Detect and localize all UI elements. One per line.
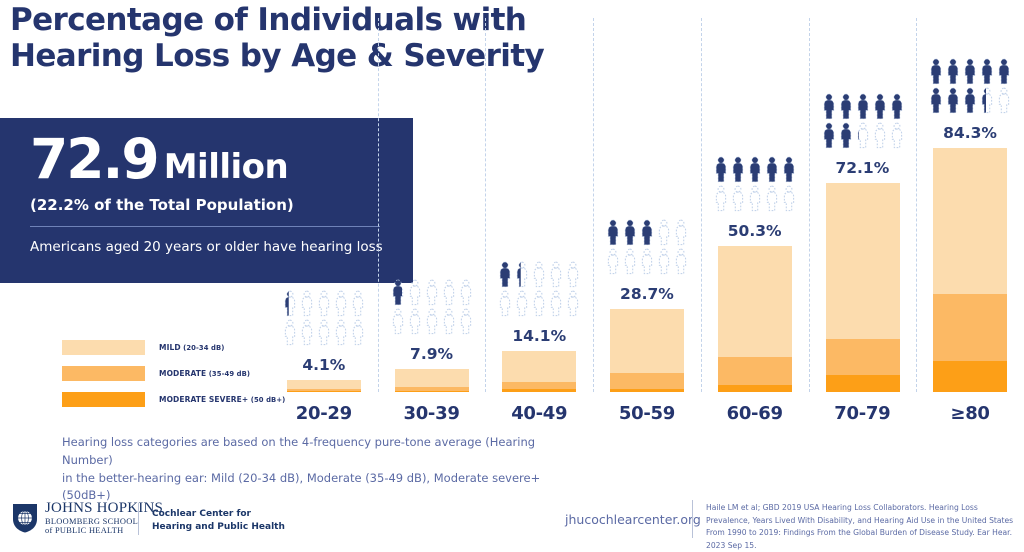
age-group-label-60-69: 60-69 <box>701 403 809 424</box>
person-icon <box>873 93 887 120</box>
person-icon <box>623 219 637 246</box>
cochlear-center-line-2: Hearing and Public Health <box>152 521 285 534</box>
bar-value-label: 50.3% <box>701 222 809 240</box>
person-icon-wrap <box>425 308 439 335</box>
person-icon-wrap <box>822 122 836 149</box>
person-icon-wrap <box>873 93 887 120</box>
person-icon-wrap <box>606 219 620 246</box>
person-icon-wrap <box>748 156 762 183</box>
person-icon-wrap <box>822 93 836 120</box>
chart-column: 50.3%60-69 <box>701 0 809 430</box>
legend-label: MODERATE (35-49 dB) <box>159 369 250 378</box>
bar-segment <box>933 148 1007 294</box>
headline-stat-number: 72.9 <box>30 127 158 191</box>
person-icon-wrap <box>317 290 331 317</box>
person-icon-wrap <box>459 279 473 306</box>
person-icon-wrap <box>782 185 796 212</box>
bar-value-label: 4.1% <box>270 356 378 374</box>
chart-column: 4.1%20-29 <box>270 0 378 430</box>
bar-segment <box>933 294 1007 361</box>
bar-value-label: 7.9% <box>378 345 486 363</box>
person-icon <box>606 248 620 275</box>
person-icon-wrap <box>929 58 943 85</box>
person-icon-wrap <box>317 319 331 346</box>
person-icon <box>408 308 422 335</box>
cochlear-center-line-1: Cochlear Center for <box>152 508 285 521</box>
person-icon <box>765 156 779 183</box>
legend-label-name: MODERATE SEVERE+ <box>159 395 248 404</box>
pictogram <box>604 219 690 275</box>
person-icon-wrap <box>459 308 473 335</box>
person-icon <box>498 290 512 317</box>
person-icon <box>532 261 546 288</box>
chart-column: 14.1%40-49 <box>485 0 593 430</box>
person-icon <box>459 279 473 306</box>
legend-swatch <box>62 392 145 407</box>
person-icon-wrap <box>657 248 671 275</box>
person-icon <box>839 122 853 149</box>
person-icon-wrap <box>515 261 529 288</box>
legend-label: MODERATE SEVERE+ (50 dB+) <box>159 395 285 404</box>
bar-50-59[interactable] <box>610 309 684 392</box>
person-icon <box>748 156 762 183</box>
person-icon <box>748 185 762 212</box>
person-icon <box>498 261 512 288</box>
person-icon <box>657 219 671 246</box>
person-icon <box>300 290 314 317</box>
person-icon <box>425 279 439 306</box>
person-icon <box>640 248 654 275</box>
pictogram <box>820 93 906 149</box>
column-separator <box>593 18 594 392</box>
person-icon-wrap <box>425 279 439 306</box>
footnote: Hearing loss categories are based on the… <box>62 434 582 505</box>
person-icon <box>549 261 563 288</box>
person-icon <box>980 58 994 85</box>
person-icon <box>890 93 904 120</box>
pictogram <box>927 58 1013 114</box>
bar-segment <box>287 380 361 389</box>
age-group-label-30-39: 30-39 <box>378 403 486 424</box>
person-icon-wrap <box>566 290 580 317</box>
pictogram <box>496 261 582 317</box>
legend-label-range: (35-49 dB) <box>206 370 250 378</box>
person-icon <box>963 87 977 114</box>
person-icon-wrap <box>873 122 887 149</box>
legend-swatch <box>62 366 145 381</box>
bar-segment <box>718 357 792 385</box>
person-icon-wrap <box>606 248 620 275</box>
person-icon <box>300 319 314 346</box>
person-icon <box>873 122 887 149</box>
person-icon-wrap <box>963 58 977 85</box>
person-icon <box>351 290 365 317</box>
person-icon-wrap <box>532 290 546 317</box>
bar-60-69[interactable] <box>718 246 792 392</box>
person-icon <box>459 308 473 335</box>
bar-segment <box>718 385 792 392</box>
bar-segment <box>502 351 576 381</box>
person-icon <box>515 290 529 317</box>
bar-20-29[interactable] <box>287 380 361 392</box>
infographic-root: Percentage of Individuals with Hearing L… <box>0 0 1024 541</box>
person-icon <box>425 308 439 335</box>
person-icon-wrap <box>623 248 637 275</box>
person-icon-wrap <box>980 58 994 85</box>
legend-label: MILD (20-34 dB) <box>159 343 225 352</box>
person-icon <box>391 308 405 335</box>
age-group-label-70-79: 70-79 <box>809 403 917 424</box>
person-icon <box>657 248 671 275</box>
age-group-label-40-49: 40-49 <box>485 403 593 424</box>
person-icon <box>929 58 943 85</box>
person-icon <box>442 308 456 335</box>
bar-segment <box>826 183 900 339</box>
legend-item: MILD (20-34 dB) <box>62 339 292 356</box>
person-icon-wrap <box>856 122 870 149</box>
chart-column: 84.3%≥80 <box>916 0 1024 430</box>
person-icon-wrap <box>334 319 348 346</box>
chart-column: 72.1%70-79 <box>809 0 917 430</box>
bar-segment <box>287 391 361 392</box>
person-icon-wrap <box>498 290 512 317</box>
legend: MILD (20-34 dB)MODERATE (35-49 dB)MODERA… <box>62 339 292 417</box>
pictogram <box>389 279 475 335</box>
bar-≥80[interactable] <box>933 148 1007 392</box>
person-icon-wrap <box>997 58 1011 85</box>
person-icon-wrap <box>765 156 779 183</box>
bar-segment <box>502 382 576 390</box>
person-icon-wrap <box>714 156 728 183</box>
person-icon <box>963 58 977 85</box>
person-icon <box>946 58 960 85</box>
person-icon-wrap <box>980 87 994 114</box>
person-icon <box>822 122 836 149</box>
website-url[interactable]: jhucochlearcenter.org <box>565 512 701 527</box>
person-icon-wrap <box>300 319 314 346</box>
person-icon <box>606 219 620 246</box>
footer-divider-left <box>138 503 139 535</box>
person-icon <box>623 248 637 275</box>
person-icon-wrap <box>731 185 745 212</box>
person-icon-wrap <box>839 93 853 120</box>
legend-label-range: (20-34 dB) <box>181 344 225 352</box>
cochlear-center-name: Cochlear Center for Hearing and Public H… <box>152 508 285 534</box>
person-icon-wrap <box>640 248 654 275</box>
column-separator <box>701 18 702 392</box>
person-icon <box>856 122 870 149</box>
person-icon <box>839 93 853 120</box>
person-icon-wrap <box>640 219 654 246</box>
person-icon-wrap <box>765 185 779 212</box>
person-icon-wrap <box>674 219 688 246</box>
person-icon <box>782 185 796 212</box>
person-icon-wrap <box>549 290 563 317</box>
person-icon <box>731 156 745 183</box>
person-icon-wrap <box>731 156 745 183</box>
person-icon-wrap <box>549 261 563 288</box>
person-icon-wrap <box>674 248 688 275</box>
person-icon-wrap <box>929 87 943 114</box>
person-icon <box>997 87 1011 114</box>
jhu-logo: JOHNS HOPKINS BLOOMBERG SCHOOL of PUBLIC… <box>12 500 163 536</box>
age-group-label-≥80: ≥80 <box>916 403 1024 424</box>
person-icon-wrap <box>782 156 796 183</box>
chart-column: 7.9%30-39 <box>378 0 486 430</box>
jhu-logo-line-2: BLOOMBERG SCHOOL <box>45 517 163 526</box>
citation: Haile LM et al; GBD 2019 USA Hearing Los… <box>706 502 1016 552</box>
bar-segment <box>395 391 469 392</box>
person-icon-wrap <box>283 290 297 317</box>
person-icon-wrap <box>408 279 422 306</box>
person-icon-wrap <box>856 93 870 120</box>
person-icon <box>782 156 796 183</box>
bar-value-label: 14.1% <box>485 327 593 345</box>
legend-label-name: MILD <box>159 343 181 352</box>
person-icon-wrap <box>351 290 365 317</box>
footnote-line-1: Hearing loss categories are based on the… <box>62 434 582 470</box>
pictogram <box>712 156 798 212</box>
jhu-logo-line-1: JOHNS HOPKINS <box>45 500 163 517</box>
bar-segment <box>718 246 792 357</box>
person-icon-wrap <box>408 308 422 335</box>
person-icon-wrap <box>532 261 546 288</box>
person-icon <box>714 156 728 183</box>
bar-segment <box>395 369 469 387</box>
bar-70-79[interactable] <box>826 183 900 392</box>
column-separator <box>378 18 379 392</box>
person-icon <box>856 93 870 120</box>
person-icon <box>946 87 960 114</box>
person-icon-wrap <box>946 87 960 114</box>
person-icon-wrap <box>748 185 762 212</box>
person-icon <box>351 319 365 346</box>
person-icon <box>640 219 654 246</box>
person-icon-wrap <box>714 185 728 212</box>
legend-label-name: MODERATE <box>159 369 206 378</box>
person-icon <box>566 261 580 288</box>
stacked-bar-chart: 4.1%20-297.9%30-3914.1%40-4928.7%50-5950… <box>270 0 1024 430</box>
chart-column: 28.7%50-59 <box>593 0 701 430</box>
shield-icon <box>12 503 38 533</box>
person-icon <box>515 261 529 288</box>
bar-segment <box>610 373 684 389</box>
headline-stat-subtitle: (22.2% of the Total Population) <box>30 196 294 214</box>
bar-segment <box>826 375 900 392</box>
footer-divider-right <box>692 500 693 538</box>
person-icon <box>334 319 348 346</box>
person-icon <box>334 290 348 317</box>
column-separator <box>916 18 917 392</box>
person-icon <box>822 93 836 120</box>
person-icon-wrap <box>283 319 297 346</box>
person-icon-wrap <box>442 308 456 335</box>
person-icon <box>929 87 943 114</box>
bar-value-label: 84.3% <box>916 124 1024 142</box>
bar-value-label: 28.7% <box>593 285 701 303</box>
person-icon-wrap <box>300 290 314 317</box>
person-icon <box>674 219 688 246</box>
person-icon-wrap <box>515 290 529 317</box>
person-icon <box>283 290 297 317</box>
pictogram <box>281 290 367 346</box>
person-icon <box>408 279 422 306</box>
person-icon <box>765 185 779 212</box>
person-icon <box>532 290 546 317</box>
person-icon-wrap <box>657 219 671 246</box>
bar-segment <box>933 361 1007 392</box>
bar-value-label: 72.1% <box>809 159 917 177</box>
bar-30-39[interactable] <box>395 369 469 392</box>
legend-item: MODERATE SEVERE+ (50 dB+) <box>62 391 292 408</box>
headline-stat-value-row: 72.9Million <box>30 132 288 187</box>
jhu-logo-line-3: of PUBLIC HEALTH <box>45 526 163 535</box>
legend-item: MODERATE (35-49 dB) <box>62 365 292 382</box>
person-icon-wrap <box>442 279 456 306</box>
legend-swatch <box>62 340 145 355</box>
person-icon <box>566 290 580 317</box>
person-icon <box>317 290 331 317</box>
person-icon <box>980 87 994 114</box>
person-icon <box>714 185 728 212</box>
person-icon-wrap <box>839 122 853 149</box>
person-icon <box>317 319 331 346</box>
person-icon-wrap <box>997 87 1011 114</box>
bar-segment <box>502 389 576 392</box>
person-icon-wrap <box>890 122 904 149</box>
jhu-logo-text: JOHNS HOPKINS BLOOMBERG SCHOOL of PUBLIC… <box>45 500 163 536</box>
person-icon-wrap <box>890 93 904 120</box>
person-icon-wrap <box>623 219 637 246</box>
person-icon <box>391 279 405 306</box>
age-group-label-50-59: 50-59 <box>593 403 701 424</box>
person-icon-wrap <box>963 87 977 114</box>
person-icon <box>997 58 1011 85</box>
column-separator <box>809 18 810 392</box>
person-icon <box>674 248 688 275</box>
person-icon-wrap <box>391 279 405 306</box>
person-icon-wrap <box>566 261 580 288</box>
bar-segment <box>610 309 684 374</box>
age-group-label-20-29: 20-29 <box>270 403 378 424</box>
person-icon <box>549 290 563 317</box>
person-icon <box>283 319 297 346</box>
person-icon-wrap <box>334 290 348 317</box>
bar-40-49[interactable] <box>502 351 576 392</box>
person-icon <box>442 279 456 306</box>
bar-segment <box>826 339 900 375</box>
person-icon-wrap <box>351 319 365 346</box>
person-icon-wrap <box>391 308 405 335</box>
person-icon <box>731 185 745 212</box>
person-icon-wrap <box>498 261 512 288</box>
person-icon-wrap <box>946 58 960 85</box>
bar-segment <box>610 389 684 392</box>
person-icon <box>890 122 904 149</box>
